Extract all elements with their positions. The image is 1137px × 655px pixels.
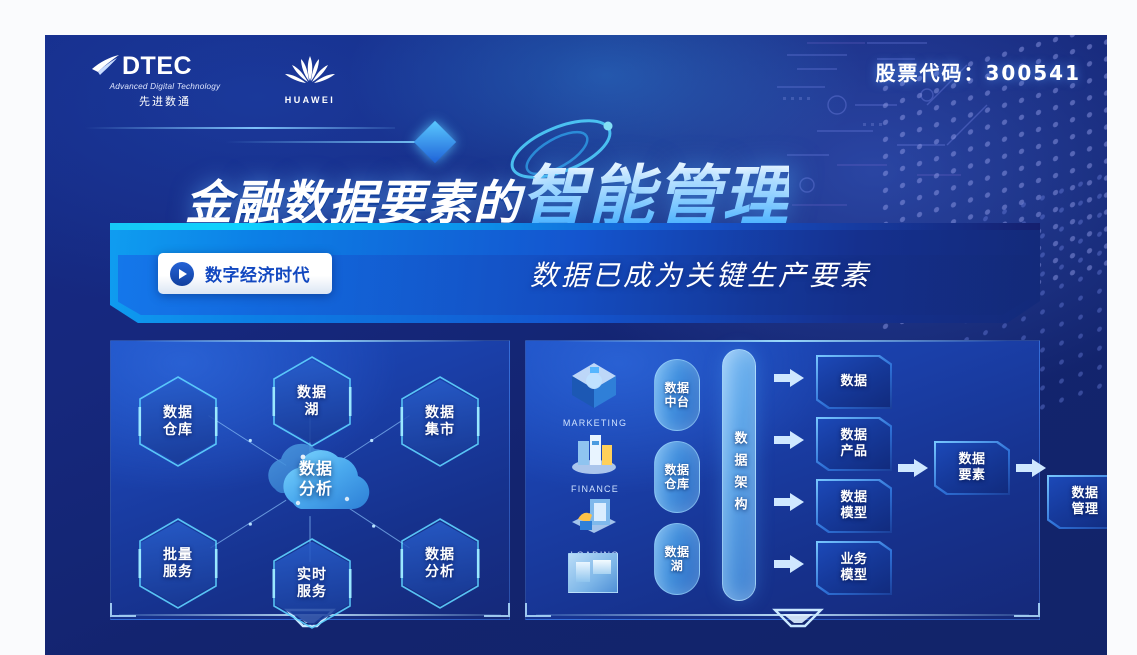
node-label-line1: 实时 bbox=[297, 567, 327, 584]
data-architecture-column[interactable]: 数据架构 bbox=[722, 349, 756, 601]
dashboard-icon[interactable] bbox=[568, 553, 618, 593]
node-body: 数据 湖 bbox=[275, 360, 349, 444]
stage-data-warehouse[interactable]: 数据仓库 bbox=[654, 441, 700, 513]
huawei-wordmark: HUAWEI bbox=[274, 95, 346, 105]
cube-icon bbox=[568, 359, 620, 411]
dtec-chinese-name: 先进数通 bbox=[90, 93, 240, 109]
arrow-right-icon bbox=[774, 369, 804, 387]
database-icon bbox=[568, 491, 620, 543]
final-line1: 数据 bbox=[958, 452, 985, 467]
column-label: 数据架构 bbox=[730, 431, 749, 519]
node-label-line1: 批量 bbox=[163, 547, 193, 564]
node-realtime-service[interactable]: 实时 服务 bbox=[271, 537, 353, 630]
node-label-line2: 服务 bbox=[297, 584, 327, 601]
output-body: 数据 bbox=[818, 357, 890, 407]
node-data-lake[interactable]: 数据 湖 bbox=[271, 355, 353, 448]
output-data-product[interactable]: 数据产品 bbox=[816, 417, 892, 471]
output-line2: 模型 bbox=[840, 506, 867, 521]
right-diagram-panel: MARKETING FINANCE LOADING bbox=[525, 340, 1040, 620]
cloud-label-line2: 分析 bbox=[257, 479, 375, 499]
final-data-management[interactable]: 数据管理 bbox=[1047, 475, 1107, 529]
output-line1: 数据 bbox=[840, 428, 867, 443]
arrow-right-icon bbox=[774, 431, 804, 449]
node-label-line1: 数据 bbox=[425, 405, 455, 422]
stage-data-midplatform[interactable]: 数据中台 bbox=[654, 359, 700, 431]
source-finance[interactable]: FINANCE bbox=[556, 425, 634, 492]
node-label-line2: 集市 bbox=[425, 422, 455, 439]
stock-code-label: 股票代码：300541 bbox=[876, 57, 1082, 86]
output-body: 数据模型 bbox=[818, 481, 890, 531]
node-label-line2: 湖 bbox=[305, 402, 320, 419]
final-data-element[interactable]: 数据要素 bbox=[934, 441, 1010, 495]
final-line1: 数据 bbox=[1071, 486, 1098, 501]
node-label-line1: 数据 bbox=[297, 385, 327, 402]
node-body: 批量 服务 bbox=[141, 522, 215, 606]
arrow-right-icon bbox=[774, 493, 804, 511]
presentation-slide: DTEC Advanced Digital Technology 先进数通 HU… bbox=[45, 35, 1107, 655]
logo-group: DTEC Advanced Digital Technology 先进数通 HU… bbox=[90, 53, 346, 109]
node-label-line2: 服务 bbox=[163, 564, 193, 581]
center-cloud-label: 数据 分析 bbox=[257, 459, 375, 499]
node-batch-service[interactable]: 批量 服务 bbox=[137, 517, 219, 610]
section-banner: 数字经济时代 数据已成为关键生产要素 bbox=[110, 223, 1040, 323]
output-data[interactable]: 数据 bbox=[816, 355, 892, 409]
final-line2: 要素 bbox=[958, 468, 985, 483]
banner-top-accent bbox=[110, 223, 1040, 230]
output-business-model[interactable]: 业务模型 bbox=[816, 541, 892, 595]
dtec-wordmark: DTEC bbox=[122, 54, 192, 79]
node-body: 数据 仓库 bbox=[141, 380, 215, 464]
node-data-mart[interactable]: 数据 集市 bbox=[399, 375, 481, 468]
arrow-right-icon bbox=[774, 555, 804, 573]
section-tag-label: 数字经济时代 bbox=[205, 261, 310, 286]
arrow-right-icon bbox=[1016, 459, 1046, 477]
node-body: 数据 集市 bbox=[403, 380, 477, 464]
pill-line1: 数据 bbox=[664, 463, 689, 477]
dtec-mark-icon bbox=[90, 53, 120, 79]
output-line1: 数据 bbox=[840, 490, 867, 505]
dtec-tagline: Advanced Digital Technology bbox=[90, 82, 240, 91]
huawei-flower-icon bbox=[279, 53, 341, 87]
node-body: 实时 服务 bbox=[275, 542, 349, 626]
pill-line1: 数据 bbox=[664, 545, 689, 559]
output-body: 数据产品 bbox=[818, 419, 890, 469]
node-label-line2: 仓库 bbox=[163, 422, 193, 439]
output-line1: 业务 bbox=[840, 552, 867, 567]
node-body: 数据 分析 bbox=[403, 522, 477, 606]
play-icon bbox=[170, 262, 194, 286]
node-data-analysis[interactable]: 数据 分析 bbox=[399, 517, 481, 610]
server-icon bbox=[568, 425, 620, 477]
output-body: 数据要素 bbox=[936, 443, 1008, 493]
source-marketing[interactable]: MARKETING bbox=[556, 359, 634, 426]
pill-line2: 湖 bbox=[671, 559, 684, 573]
panel-corner-bracket bbox=[525, 603, 551, 617]
output-body: 数据管理 bbox=[1049, 477, 1107, 527]
node-label-line1: 数据 bbox=[163, 405, 193, 422]
pill-line2: 仓库 bbox=[664, 477, 689, 491]
cloud-label-line1: 数据 bbox=[257, 459, 375, 479]
source-loading[interactable]: LOADING bbox=[556, 491, 634, 558]
output-line2: 模型 bbox=[840, 568, 867, 583]
output-body: 业务模型 bbox=[818, 543, 890, 593]
dtec-logo: DTEC Advanced Digital Technology 先进数通 bbox=[90, 53, 240, 109]
pill-line1: 数据 bbox=[664, 381, 689, 395]
arrow-right-icon bbox=[898, 459, 928, 477]
panel-corner-bracket bbox=[1014, 603, 1040, 617]
final-line2: 管理 bbox=[1071, 502, 1098, 517]
center-cloud-node[interactable]: 数据 分析 bbox=[257, 437, 375, 523]
chevron-down-icon bbox=[771, 606, 825, 630]
node-label-line2: 分析 bbox=[425, 564, 455, 581]
output-data-model[interactable]: 数据模型 bbox=[816, 479, 892, 533]
stage-data-lake[interactable]: 数据湖 bbox=[654, 523, 700, 595]
section-tag[interactable]: 数字经济时代 bbox=[158, 253, 332, 294]
panel-top-accent bbox=[557, 340, 1008, 342]
node-data-warehouse[interactable]: 数据 仓库 bbox=[137, 375, 219, 468]
banner-headline: 数据已成为关键生产要素 bbox=[530, 254, 871, 294]
output-line1: 数据 bbox=[840, 374, 867, 389]
node-label-line1: 数据 bbox=[425, 547, 455, 564]
pill-line2: 中台 bbox=[664, 395, 689, 409]
output-line2: 产品 bbox=[840, 444, 867, 459]
main-title-area: 金融数据要素的智能管理 bbox=[165, 117, 1085, 222]
left-diagram-panel: 数据 仓库 数据 湖 数据 集市 bbox=[110, 340, 510, 620]
huawei-logo: HUAWEI bbox=[274, 53, 346, 105]
